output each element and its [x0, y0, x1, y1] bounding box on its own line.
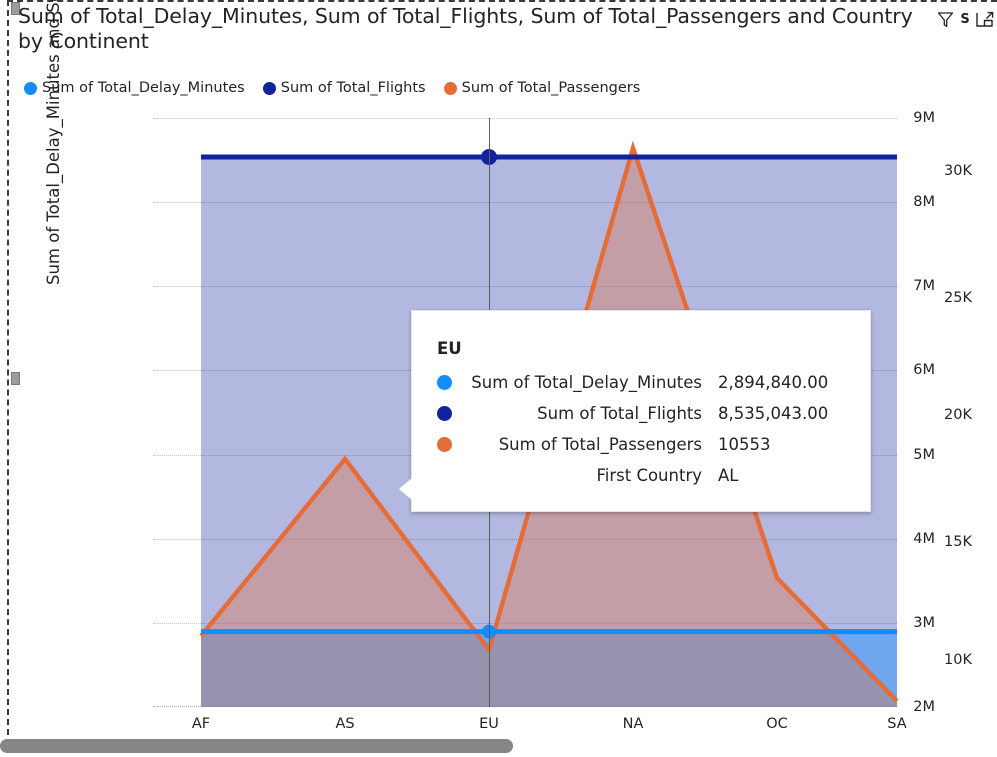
tooltip-title: EU — [437, 339, 842, 358]
tooltip-value: 2,894,840.00 — [718, 373, 842, 392]
tooltip-row: Sum of Total_Passengers 10553 — [437, 429, 842, 460]
tooltip-row: Sum of Total_Delay_Minutes 2,894,840.00 — [437, 367, 842, 398]
tooltip-dot-icon — [437, 406, 452, 421]
x-axis-tick: EU — [479, 716, 499, 732]
horizontal-scrollbar-thumb[interactable] — [0, 739, 513, 753]
powerbi-visual: Sum of Total_Delay_Minutes, Sum of Total… — [0, 0, 997, 757]
visual-header-icons: S — [934, 8, 996, 30]
x-axis-tick: AF — [192, 716, 210, 732]
y2-axis-tick: 20K — [944, 407, 990, 423]
legend-dot-icon — [263, 82, 276, 95]
tooltip-label: First Country — [466, 466, 718, 485]
y2-axis-tick: 30K — [944, 163, 990, 179]
focus-mode-icon[interactable]: S — [959, 8, 971, 30]
tooltip-dot-icon — [437, 437, 452, 452]
filter-icon[interactable] — [934, 8, 956, 30]
secondary-y-axis: 30K 25K 20K 15K 10K — [944, 118, 997, 707]
legend-item-total-passengers[interactable]: Sum of Total_Passengers — [444, 80, 641, 96]
x-axis-tick: SA — [887, 716, 906, 732]
x-axis-tick: NA — [623, 716, 644, 732]
legend-label: Sum of Total_Flights — [281, 80, 426, 96]
y2-axis-tick: 25K — [944, 290, 990, 306]
legend-dot-icon — [24, 82, 37, 95]
legend-item-total-flights[interactable]: Sum of Total_Flights — [263, 80, 426, 96]
legend-label: Sum of Total_Passengers — [462, 80, 641, 96]
x-axis-tick: AS — [335, 716, 354, 732]
chart-tooltip: EU Sum of Total_Delay_Minutes 2,894,840.… — [411, 310, 871, 512]
tooltip-row: First Country AL — [437, 460, 842, 491]
tooltip-label: Sum of Total_Delay_Minutes — [466, 373, 718, 392]
tooltip-value: 8,535,043.00 — [718, 404, 842, 423]
legend-label: Sum of Total_Delay_Minutes — [42, 80, 245, 96]
chart-legend: Sum of Total_Delay_Minutes Sum of Total_… — [24, 80, 640, 96]
y2-axis-tick: 10K — [944, 652, 990, 668]
tooltip-label: Sum of Total_Flights — [466, 404, 718, 423]
y-axis-title: Sum of Total_Delay_Minutes and Sum of To… — [44, 0, 63, 285]
tooltip-row: Sum of Total_Flights 8,535,043.00 — [437, 398, 842, 429]
resize-handle-middle-left[interactable] — [11, 372, 20, 385]
tooltip-dot-placeholder — [437, 468, 452, 483]
x-axis-tick: OC — [766, 716, 788, 732]
tooltip-value: AL — [718, 466, 842, 485]
tooltip-dot-icon — [437, 375, 452, 390]
y2-axis-tick: 15K — [944, 534, 990, 550]
page-title: Sum of Total_Delay_Minutes, Sum of Total… — [18, 4, 923, 54]
expand-icon[interactable] — [974, 8, 996, 30]
tooltip-label: Sum of Total_Passengers — [466, 435, 718, 454]
tooltip-value: 10553 — [718, 435, 842, 454]
legend-dot-icon — [444, 82, 457, 95]
title-block: Sum of Total_Delay_Minutes, Sum of Total… — [18, 4, 923, 54]
